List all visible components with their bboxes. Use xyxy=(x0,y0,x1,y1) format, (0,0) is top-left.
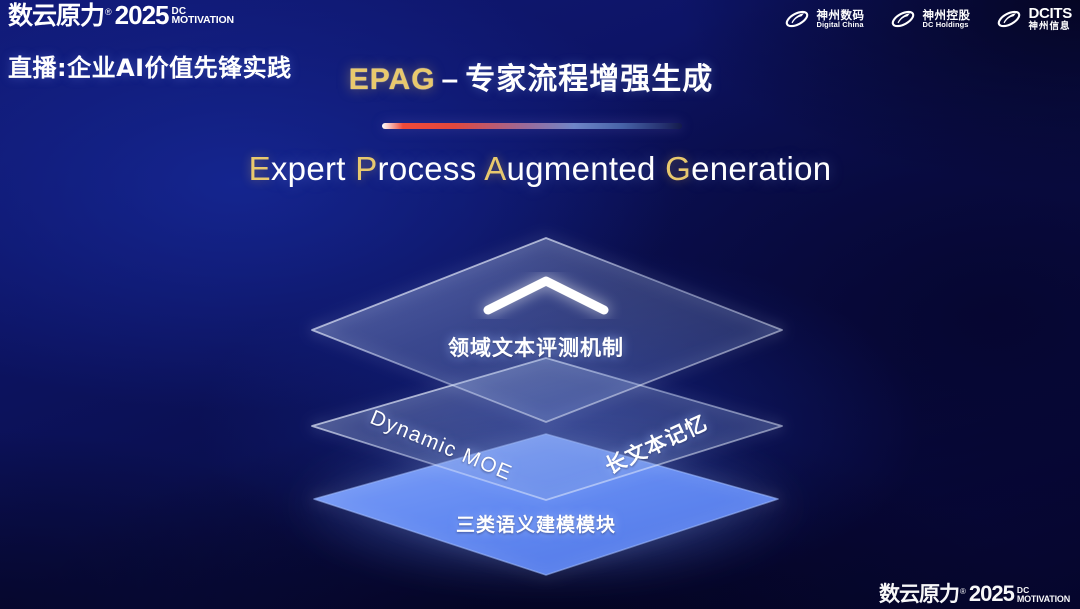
watermark-registered-mark: ® xyxy=(960,588,966,596)
watermark-year: 2025 xyxy=(969,583,1014,605)
watermark-dc-line2: MOTIVATION xyxy=(1017,595,1070,603)
layer-top-shape xyxy=(312,238,782,422)
slide-canvas: 数云原力 ® 2025 DC MOTIVATION 直播:企业AI价值先锋实践 … xyxy=(0,0,1080,609)
watermark-dc-motivation: DC MOTIVATION xyxy=(1017,587,1070,603)
layer-stack-diagram: 领域文本评测机制 Dynamic MOE 长文本记忆 三类语义建模模块 xyxy=(0,0,1080,609)
watermark-name-cn: 数云原力 xyxy=(879,584,959,605)
footer-watermark: 数云原力 ® 2025 DC MOTIVATION xyxy=(879,583,1070,605)
